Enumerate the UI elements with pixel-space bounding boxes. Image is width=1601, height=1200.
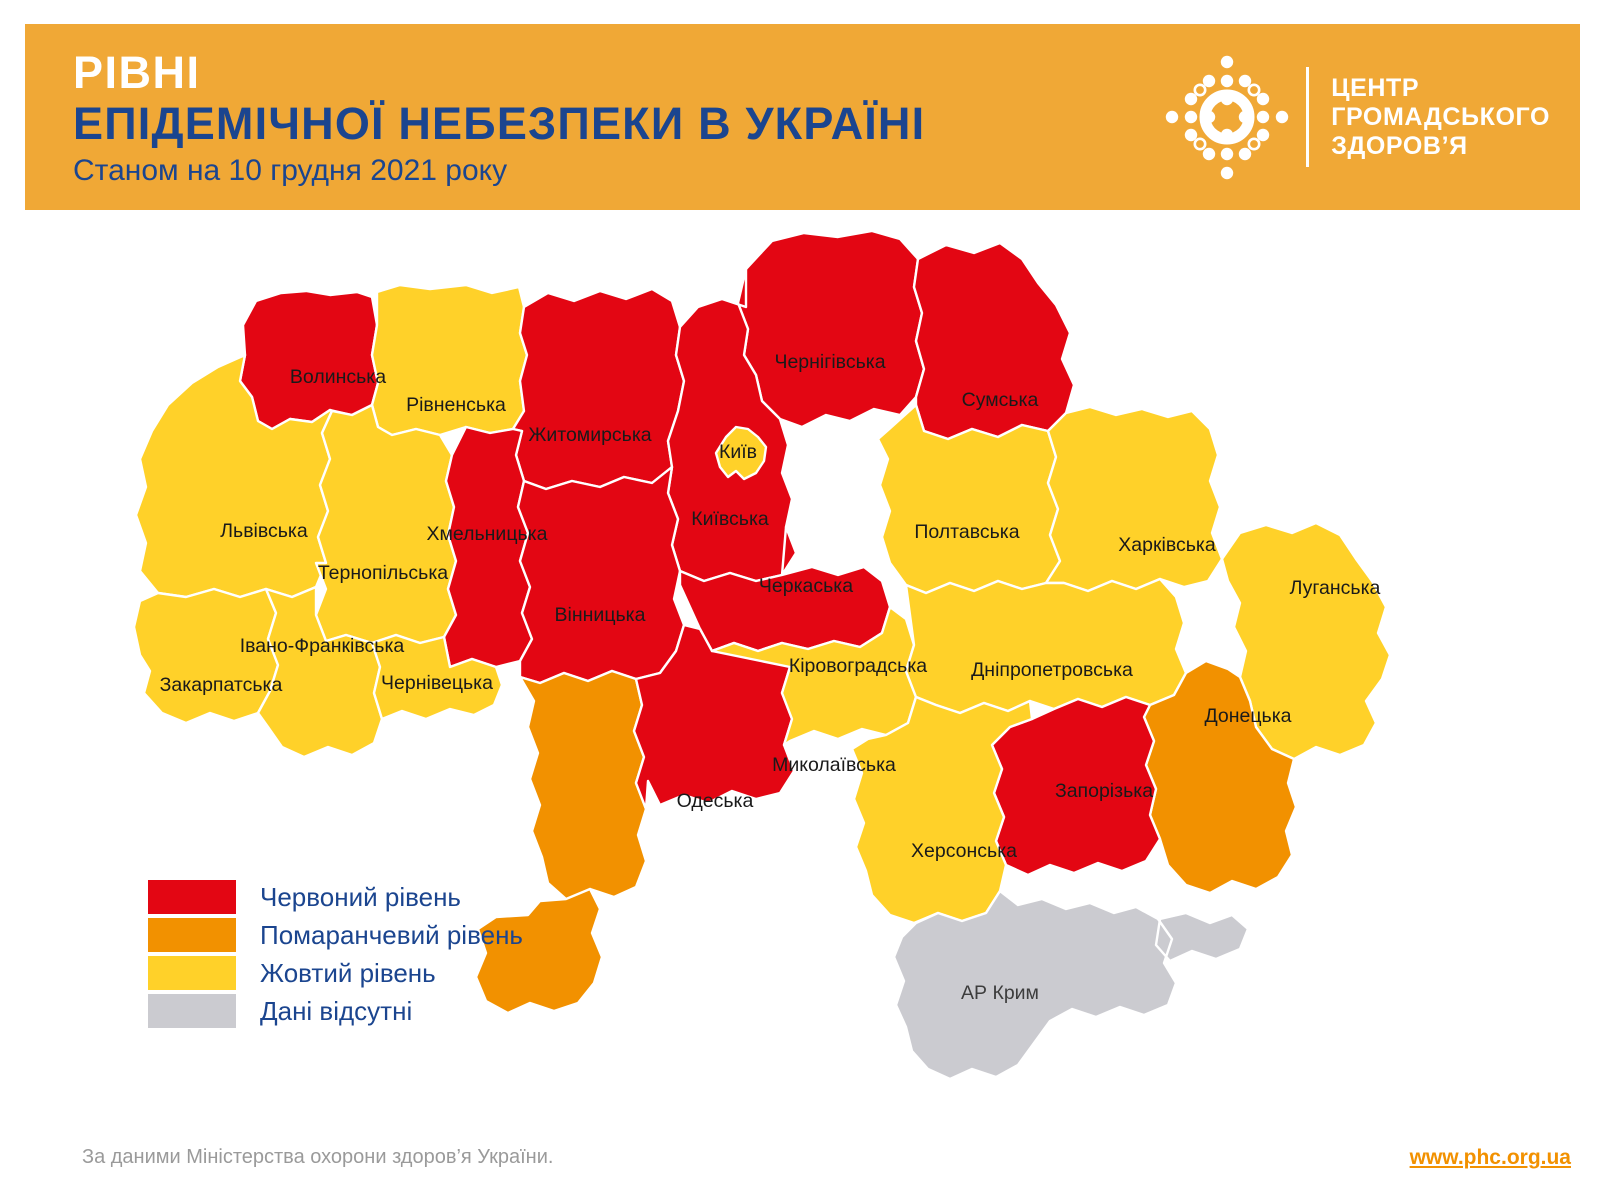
page-title-line2: ЕПІДЕМІЧНОЇ НЕБЕЗПЕКИ В УКРАЇНІ (73, 100, 925, 149)
region-label-kyiv-city: Київ (719, 441, 757, 463)
legend-swatch-orange (148, 918, 236, 952)
legend-label-orange: Помаранчевий рівень (260, 922, 523, 948)
legend-swatch-grey (148, 994, 236, 1028)
region-label-donetska: Донецька (1204, 705, 1291, 727)
region-label-ar-krym: АР Крим (961, 982, 1039, 1004)
logo-wordmark: ЦЕНТР ГРОМАДСЬКОГО ЗДОРОВ’Я (1331, 74, 1550, 161)
region-label-lvivska: Львівська (220, 520, 308, 542)
page-title-line1: РІВНІ (73, 50, 925, 96)
region-label-dnipropetrovska: Дніпропетровська (971, 659, 1133, 681)
region-label-zaporizka: Запорізька (1055, 780, 1153, 802)
region-dnipropetrovska[interactable] (906, 579, 1186, 713)
header-text-block: РІВНІ ЕПІДЕМІЧНОЇ НЕБЕЗПЕКИ В УКРАЇНІ Ст… (73, 50, 925, 187)
phc-dots-diamond-icon (1162, 52, 1292, 182)
logo-text-line1: ЦЕНТР (1331, 74, 1550, 103)
region-label-kharkivska: Харківська (1118, 534, 1216, 556)
region-label-odeska: Одеська (677, 790, 754, 812)
logo-divider (1306, 67, 1309, 167)
legend-label-yellow: Жовтий рівень (260, 960, 436, 986)
legend-label-grey: Дані відсутні (260, 998, 412, 1024)
region-label-vinnytska: Вінницька (555, 604, 646, 626)
region-label-kyivska: Київська (691, 508, 769, 530)
region-poltavska[interactable] (878, 405, 1060, 593)
legend-label-red: Червоний рівень (260, 884, 461, 910)
region-kharkivska[interactable] (1046, 407, 1222, 591)
logo-text-line2: ГРОМАДСЬКОГО (1331, 103, 1550, 132)
region-label-ternopilska: Тернопільська (318, 562, 448, 584)
region-volynska[interactable] (240, 291, 378, 429)
region-label-zhytomyrska: Житомирська (528, 424, 651, 446)
legend-item-orange: Помаранчевий рівень (148, 916, 523, 954)
region-label-chernihivska: Чернігівська (774, 351, 885, 373)
region-label-volynska: Волинська (290, 366, 386, 388)
footer-source-text: За даними Міністерства охорони здоров’я … (82, 1146, 553, 1169)
region-label-poltavska: Полтавська (914, 521, 1019, 543)
region-label-chernivetska: Чернівецька (381, 672, 493, 694)
legend-item-grey: Дані відсутні (148, 992, 523, 1030)
footer-website-link[interactable]: www.phc.org.ua (1410, 1146, 1571, 1170)
region-label-khersonska: Херсонська (911, 840, 1017, 862)
region-khmelnytska[interactable] (444, 427, 532, 667)
region-label-rivnenska: Рівненська (406, 394, 506, 416)
region-label-khmelnytska: Хмельницька (427, 523, 548, 545)
logo-text-line3: ЗДОРОВ’Я (1331, 132, 1550, 161)
region-label-kirovohradska: Кіровоградська (789, 655, 927, 677)
region-label-luhanska: Луганська (1290, 577, 1381, 599)
legend-item-yellow: Жовтий рівень (148, 954, 523, 992)
header-banner: РІВНІ ЕПІДЕМІЧНОЇ НЕБЕЗПЕКИ В УКРАЇНІ Ст… (25, 24, 1580, 210)
legend-swatch-red (148, 880, 236, 914)
region-label-sumska: Сумська (962, 389, 1039, 411)
region-zhytomyrska[interactable] (513, 289, 684, 489)
region-chernihivska[interactable] (738, 231, 924, 427)
page-subtitle-date: Станом на 10 грудня 2021 року (73, 154, 925, 187)
region-label-zakarpatska: Закарпатська (160, 674, 283, 696)
region-vinnytska[interactable] (518, 467, 684, 683)
map-legend: Червоний рівень Помаранчевий рівень Жовт… (148, 878, 523, 1030)
region-label-cherkaska: Черкаська (759, 575, 853, 597)
region-label-ivano-frankivska: Івано-Франківська (240, 635, 405, 657)
organization-logo: ЦЕНТР ГРОМАДСЬКОГО ЗДОРОВ’Я (1162, 52, 1550, 182)
region-label-mykolaivska: Миколаївська (772, 754, 896, 776)
legend-swatch-yellow (148, 956, 236, 990)
region-ar-krym[interactable] (894, 891, 1248, 1079)
legend-item-red: Червоний рівень (148, 878, 523, 916)
